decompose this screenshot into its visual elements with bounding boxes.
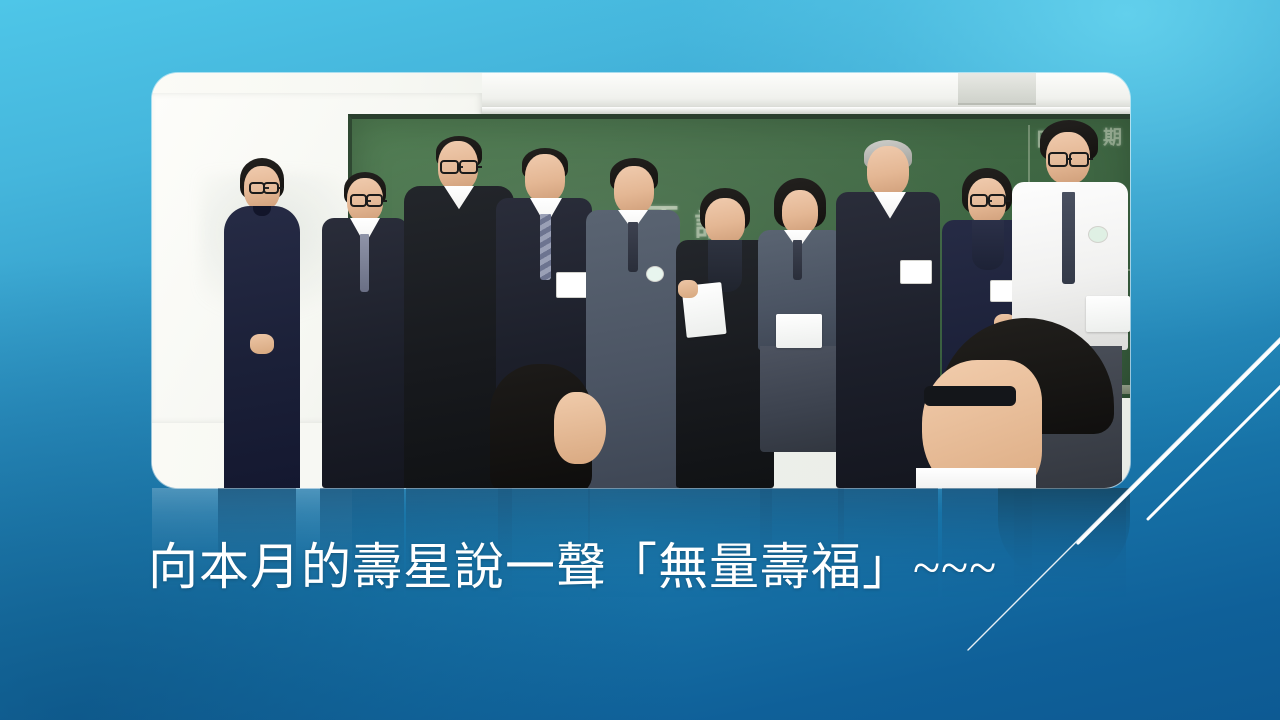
person-4-head: [525, 154, 565, 202]
person-9-glasses-right: [988, 194, 1006, 207]
person-8-head: [867, 146, 909, 196]
person-7-tie: [793, 240, 802, 280]
person-2: [314, 172, 414, 488]
person-7-head: [782, 190, 818, 234]
person-2-glasses-right: [366, 194, 383, 207]
group-photo-content: 清 補考 不要 誰要 日 早 期 9 班級 姓名: [152, 73, 1130, 488]
group-photo[interactable]: 清 補考 不要 誰要 日 早 期 9 班級 姓名: [152, 73, 1130, 488]
person-1-hands: [250, 334, 274, 354]
person-3-glasses-right: [459, 160, 478, 174]
ceiling-light-panel: [958, 73, 1036, 105]
person-9-inner-top: [972, 220, 1004, 270]
person-4-tie: [540, 214, 551, 280]
person-2-glasses: [350, 194, 367, 207]
person-5-head: [614, 166, 654, 214]
person-1-glasses-right: [263, 182, 279, 194]
slide-caption: 向本月的壽星說一聲「無量壽福」~~~: [148, 536, 1148, 598]
person-5-tie: [628, 222, 638, 272]
chalkboard-top-rail: [482, 107, 1130, 114]
person-8-tie: [884, 206, 895, 268]
person-10-glasses: [1048, 152, 1068, 167]
fg-right-glasses: [924, 386, 1016, 406]
foreground-person-left: [482, 364, 610, 488]
person-5-school-logo: [646, 266, 664, 282]
person-3-glasses: [440, 160, 459, 174]
person-10-school-logo: [1088, 226, 1108, 243]
person-8-name-badge: [900, 260, 932, 284]
person-9-glasses: [970, 194, 988, 207]
person-1: [210, 158, 314, 488]
person-7-skirt: [760, 346, 844, 452]
fg-left-face: [554, 392, 606, 464]
fg-right-collar: [916, 468, 1036, 488]
presentation-slide: 清 補考 不要 誰要 日 早 期 9 班級 姓名: [0, 0, 1280, 720]
person-10-tie: [1062, 192, 1075, 284]
person-7-envelope: [776, 314, 822, 348]
person-10-glasses-right: [1069, 152, 1089, 167]
person-2-tie: [360, 234, 369, 292]
foreground-person-right: [916, 318, 1130, 488]
person-6-hand: [678, 280, 698, 298]
person-6-head: [705, 198, 745, 244]
